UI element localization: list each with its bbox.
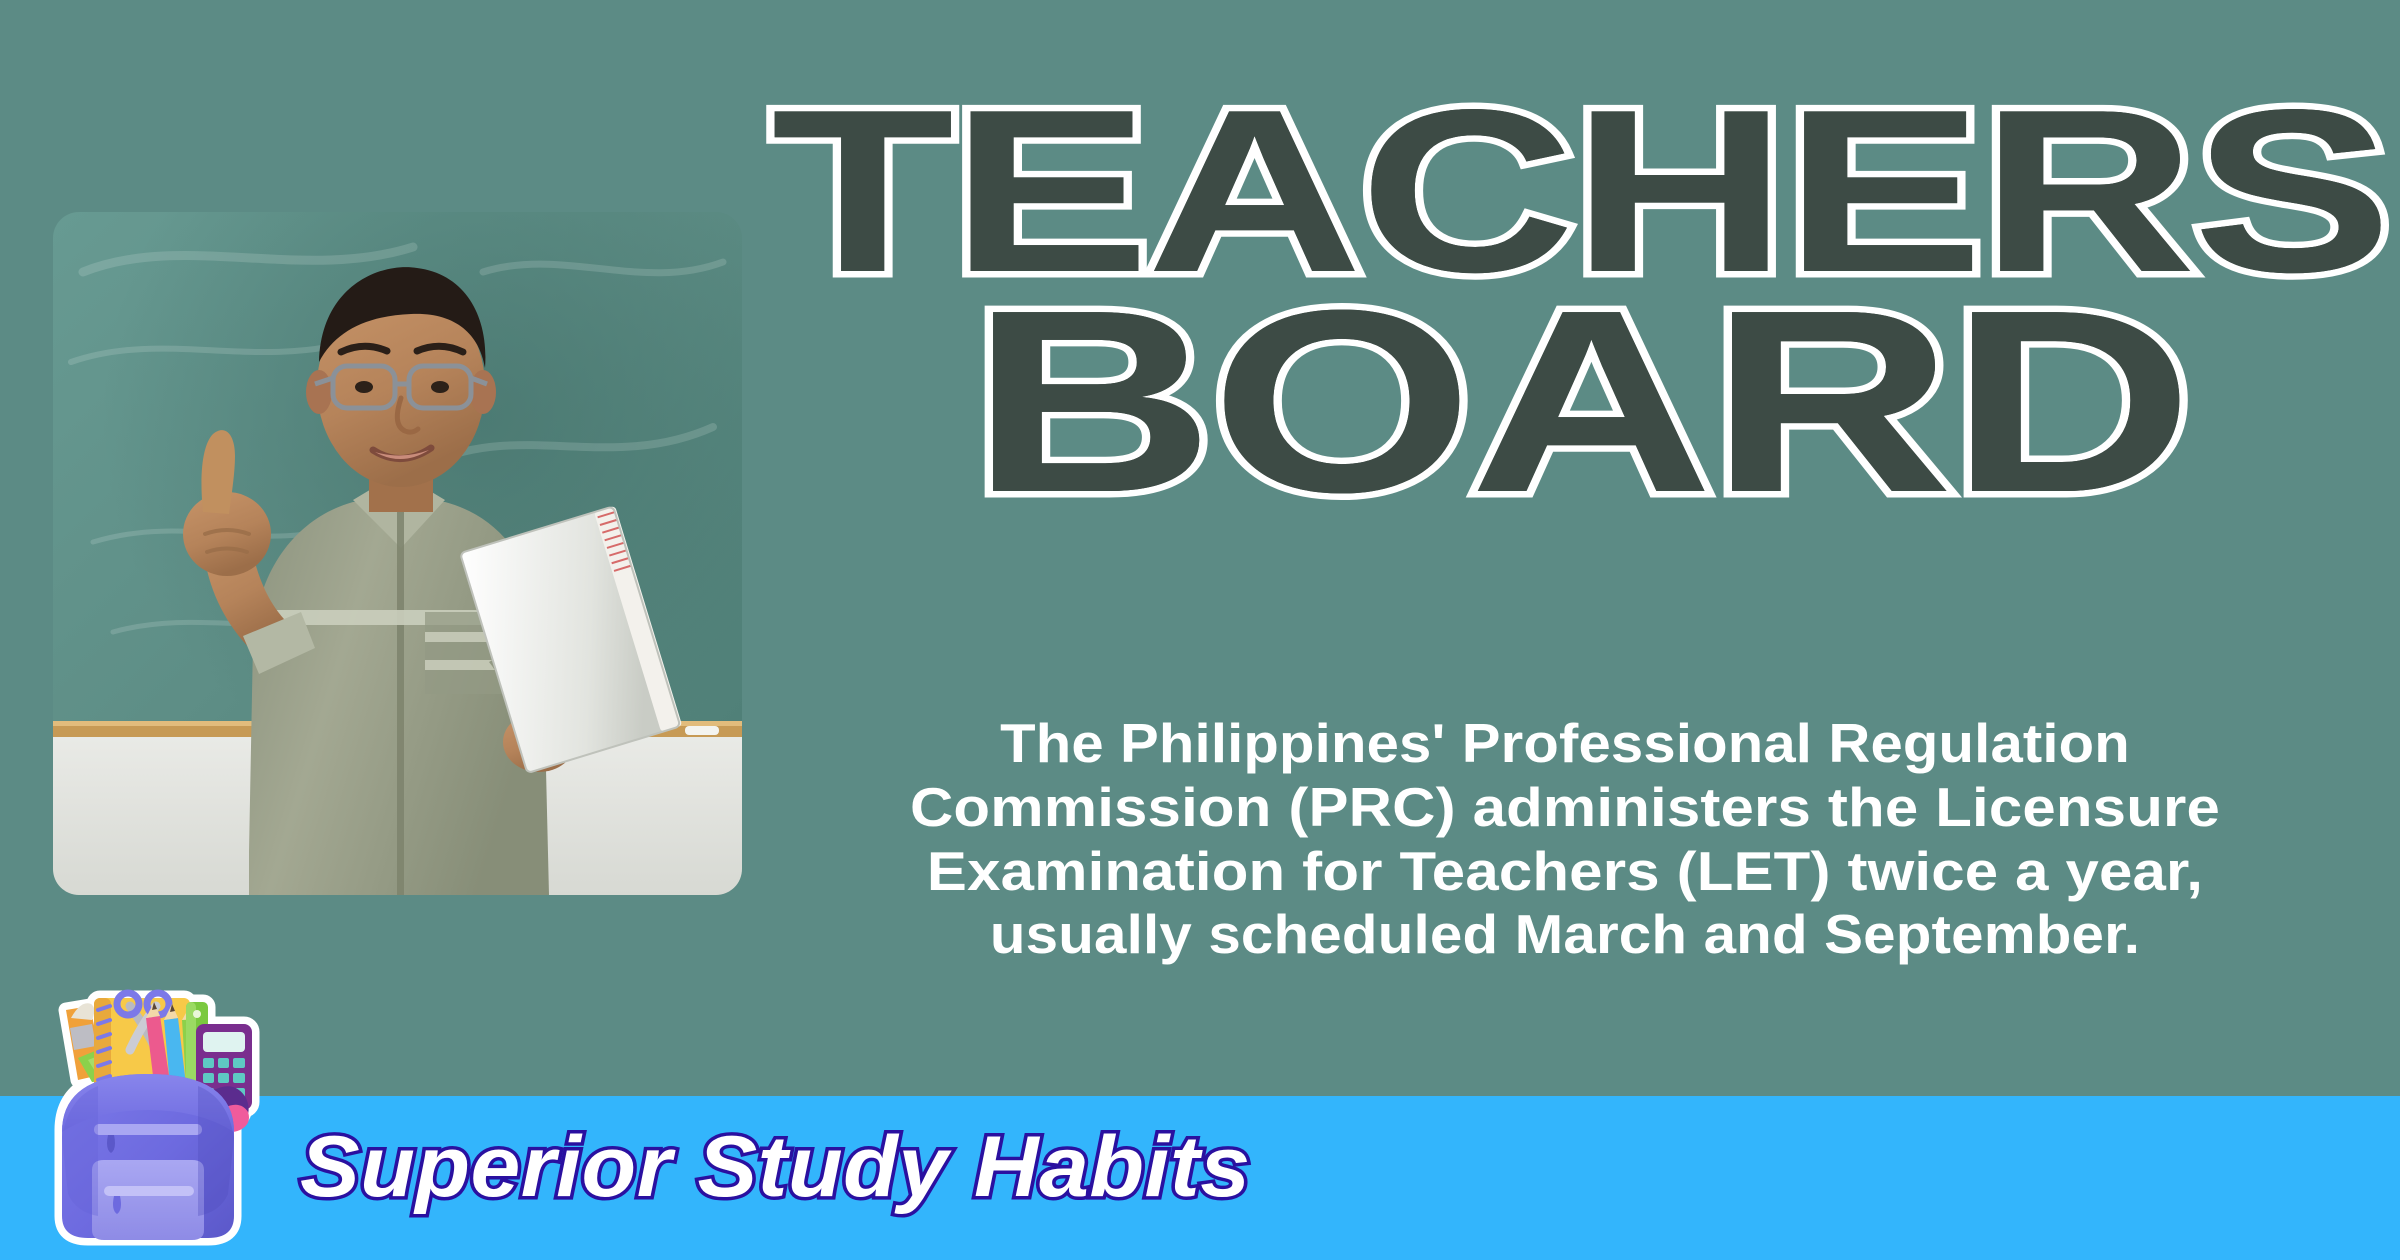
subtitle-paragraph: The Philippines' Professional Regulation… bbox=[790, 712, 2340, 967]
brand-name: Superior Study Habits bbox=[300, 1124, 1251, 1210]
headline-line-board: BOARD bbox=[592, 295, 2400, 511]
backpack-icon bbox=[18, 962, 278, 1252]
subtitle-line-4: usually scheduled March and September. bbox=[744, 903, 2387, 967]
subtitle-line-3: Examination for Teachers (LET) twice a y… bbox=[720, 840, 2400, 904]
backpack-school-supplies-illustration bbox=[18, 962, 278, 1252]
subtitle-line-2: Commission (PRC) administers the Licensu… bbox=[720, 776, 2400, 840]
subtitle-line-1: The Philippines' Professional Regulation bbox=[747, 712, 2382, 776]
page-title: TEACHERS BOARD bbox=[820, 96, 2340, 510]
poster-canvas: TEACHERS BOARD The Philippines' Professi… bbox=[0, 0, 2400, 1260]
